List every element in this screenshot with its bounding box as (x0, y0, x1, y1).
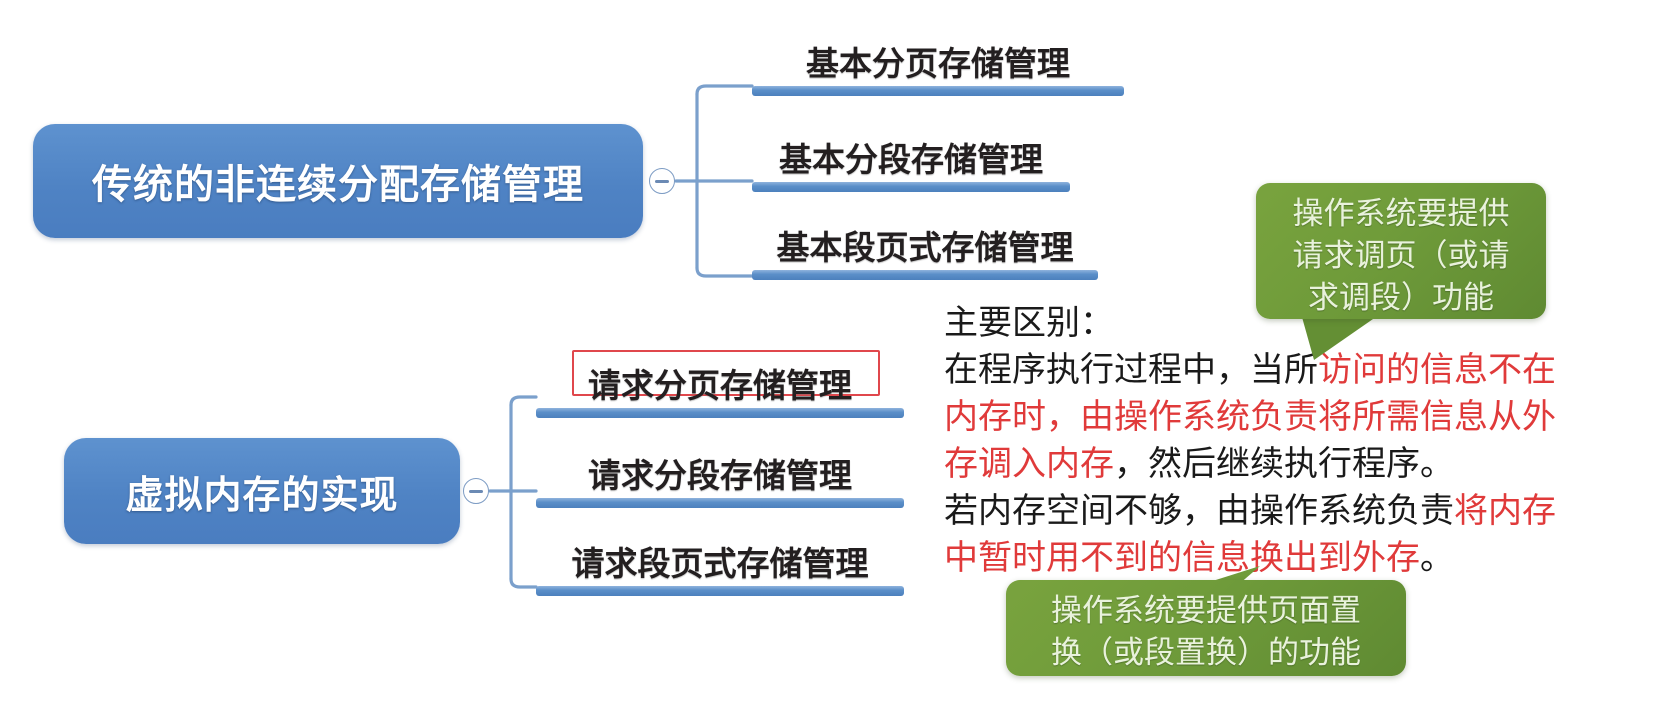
explanation-text-block: 主要区别： 在程序执行过程中，当所访问的信息不在 内存时，由操作系统负责将所需信… (944, 300, 1644, 582)
leaf-underline-bar (536, 408, 904, 418)
callout-bottom-text: 操作系统要提供页面置 换（或段置换）的功能 (1022, 590, 1390, 674)
leaf-label: 基本段页式存储管理 (752, 221, 1098, 269)
explanation-line-1: 在程序执行过程中，当所访问的信息不在 (944, 347, 1644, 394)
leaf-label: 基本分页存储管理 (752, 37, 1124, 85)
explanation-line-4: 若内存空间不够，由操作系统负责将内存 (944, 488, 1644, 535)
leaf-label: 请求分段存储管理 (536, 449, 904, 497)
leaf-label: 基本分段存储管理 (752, 133, 1070, 181)
leaf-underline-bar (752, 270, 1098, 280)
leaf-demand-segmented-paging[interactable]: 请求段页式存储管理 (536, 518, 904, 596)
root-node-2-label: 虚拟内存的实现 (125, 464, 398, 519)
leaf-basic-paging[interactable]: 基本分页存储管理 (752, 24, 1124, 96)
leaf-basic-segmentation[interactable]: 基本分段存储管理 (752, 120, 1070, 192)
leaf-underline-bar (752, 86, 1124, 96)
root-node-1-label: 传统的非连续分配存储管理 (92, 152, 584, 210)
explanation-line-2: 内存时，由操作系统负责将所需信息从外 (944, 394, 1644, 441)
leaf-label: 请求段页式存储管理 (536, 537, 904, 585)
callout-demand-paging-note: 操作系统要提供 请求调页（或请 求调段）功能 (1256, 183, 1546, 319)
leaf-underline-bar (536, 498, 904, 508)
root-node-traditional-noncontiguous[interactable]: 传统的非连续分配存储管理 (33, 124, 643, 238)
mindmap-canvas: 传统的非连续分配存储管理 基本分页存储管理 基本分段存储管理 基本段页式存储管理… (0, 0, 1659, 714)
explanation-line-5: 中暂时用不到的信息换出到外存。 (944, 535, 1644, 582)
leaf-label: 请求分页存储管理 (536, 359, 904, 407)
root-node-virtual-memory[interactable]: 虚拟内存的实现 (64, 438, 460, 544)
collapse-minus-icon-branch-2[interactable] (463, 478, 489, 504)
callout-top-text: 操作系统要提供 请求调页（或请 求调段）功能 (1272, 193, 1530, 319)
explanation-line-3: 存调入内存，然后继续执行程序。 (944, 441, 1644, 488)
leaf-underline-bar (536, 586, 904, 596)
collapse-minus-icon-branch-1[interactable] (649, 168, 675, 194)
leaf-underline-bar (752, 182, 1070, 192)
leaf-demand-paging[interactable]: 请求分页存储管理 (536, 340, 904, 418)
leaf-basic-segmented-paging[interactable]: 基本段页式存储管理 (752, 208, 1098, 280)
leaf-demand-segmentation[interactable]: 请求分段存储管理 (536, 430, 904, 508)
callout-page-replacement-note: 操作系统要提供页面置 换（或段置换）的功能 (1006, 580, 1406, 676)
